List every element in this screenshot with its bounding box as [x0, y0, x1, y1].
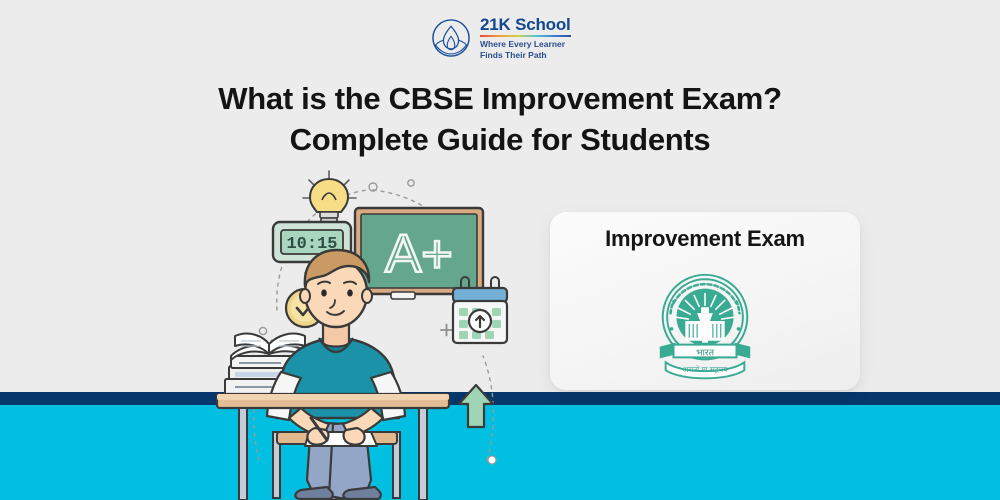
- brand-tagline-line1: Where Every Learner: [480, 39, 565, 49]
- dot-decoration: [488, 456, 496, 464]
- page-title: What is the CBSE Improvement Exam? Compl…: [0, 78, 1000, 160]
- cbse-emblem-icon: भारत असतो मा सद्गमय: [646, 264, 764, 382]
- dot-decoration: [408, 180, 414, 186]
- brand-gradient-rule: [480, 35, 571, 38]
- up-arrow-icon: [459, 385, 493, 427]
- chalkboard: A+: [355, 208, 483, 299]
- dot-decoration: [259, 327, 266, 334]
- brand-logo[interactable]: 21K School Where Every Learner Finds The…: [430, 14, 580, 62]
- emblem-banner-text: भारत: [696, 347, 715, 357]
- chalkboard-grade-text: A+: [385, 224, 453, 284]
- emblem-motto-text: असतो मा सद्गमय: [683, 365, 728, 374]
- banner-canvas: 21K School Where Every Learner Finds The…: [0, 0, 1000, 500]
- card-title: Improvement Exam: [550, 226, 860, 252]
- student-studying-illustration: A+ 10:15: [215, 160, 525, 500]
- hand-right: [344, 428, 365, 445]
- brand-tagline: Where Every Learner Finds Their Path: [480, 39, 571, 60]
- page-title-line2: Complete Guide for Students: [0, 119, 1000, 160]
- improvement-exam-card[interactable]: Improvement Exam: [550, 212, 860, 390]
- lightbulb-icon: [303, 171, 356, 224]
- lotus-circle-icon: [430, 17, 472, 59]
- page-title-line1: What is the CBSE Improvement Exam?: [218, 81, 781, 116]
- brand-name: 21K School: [480, 16, 571, 34]
- brand-tagline-line2: Finds Their Path: [480, 50, 547, 60]
